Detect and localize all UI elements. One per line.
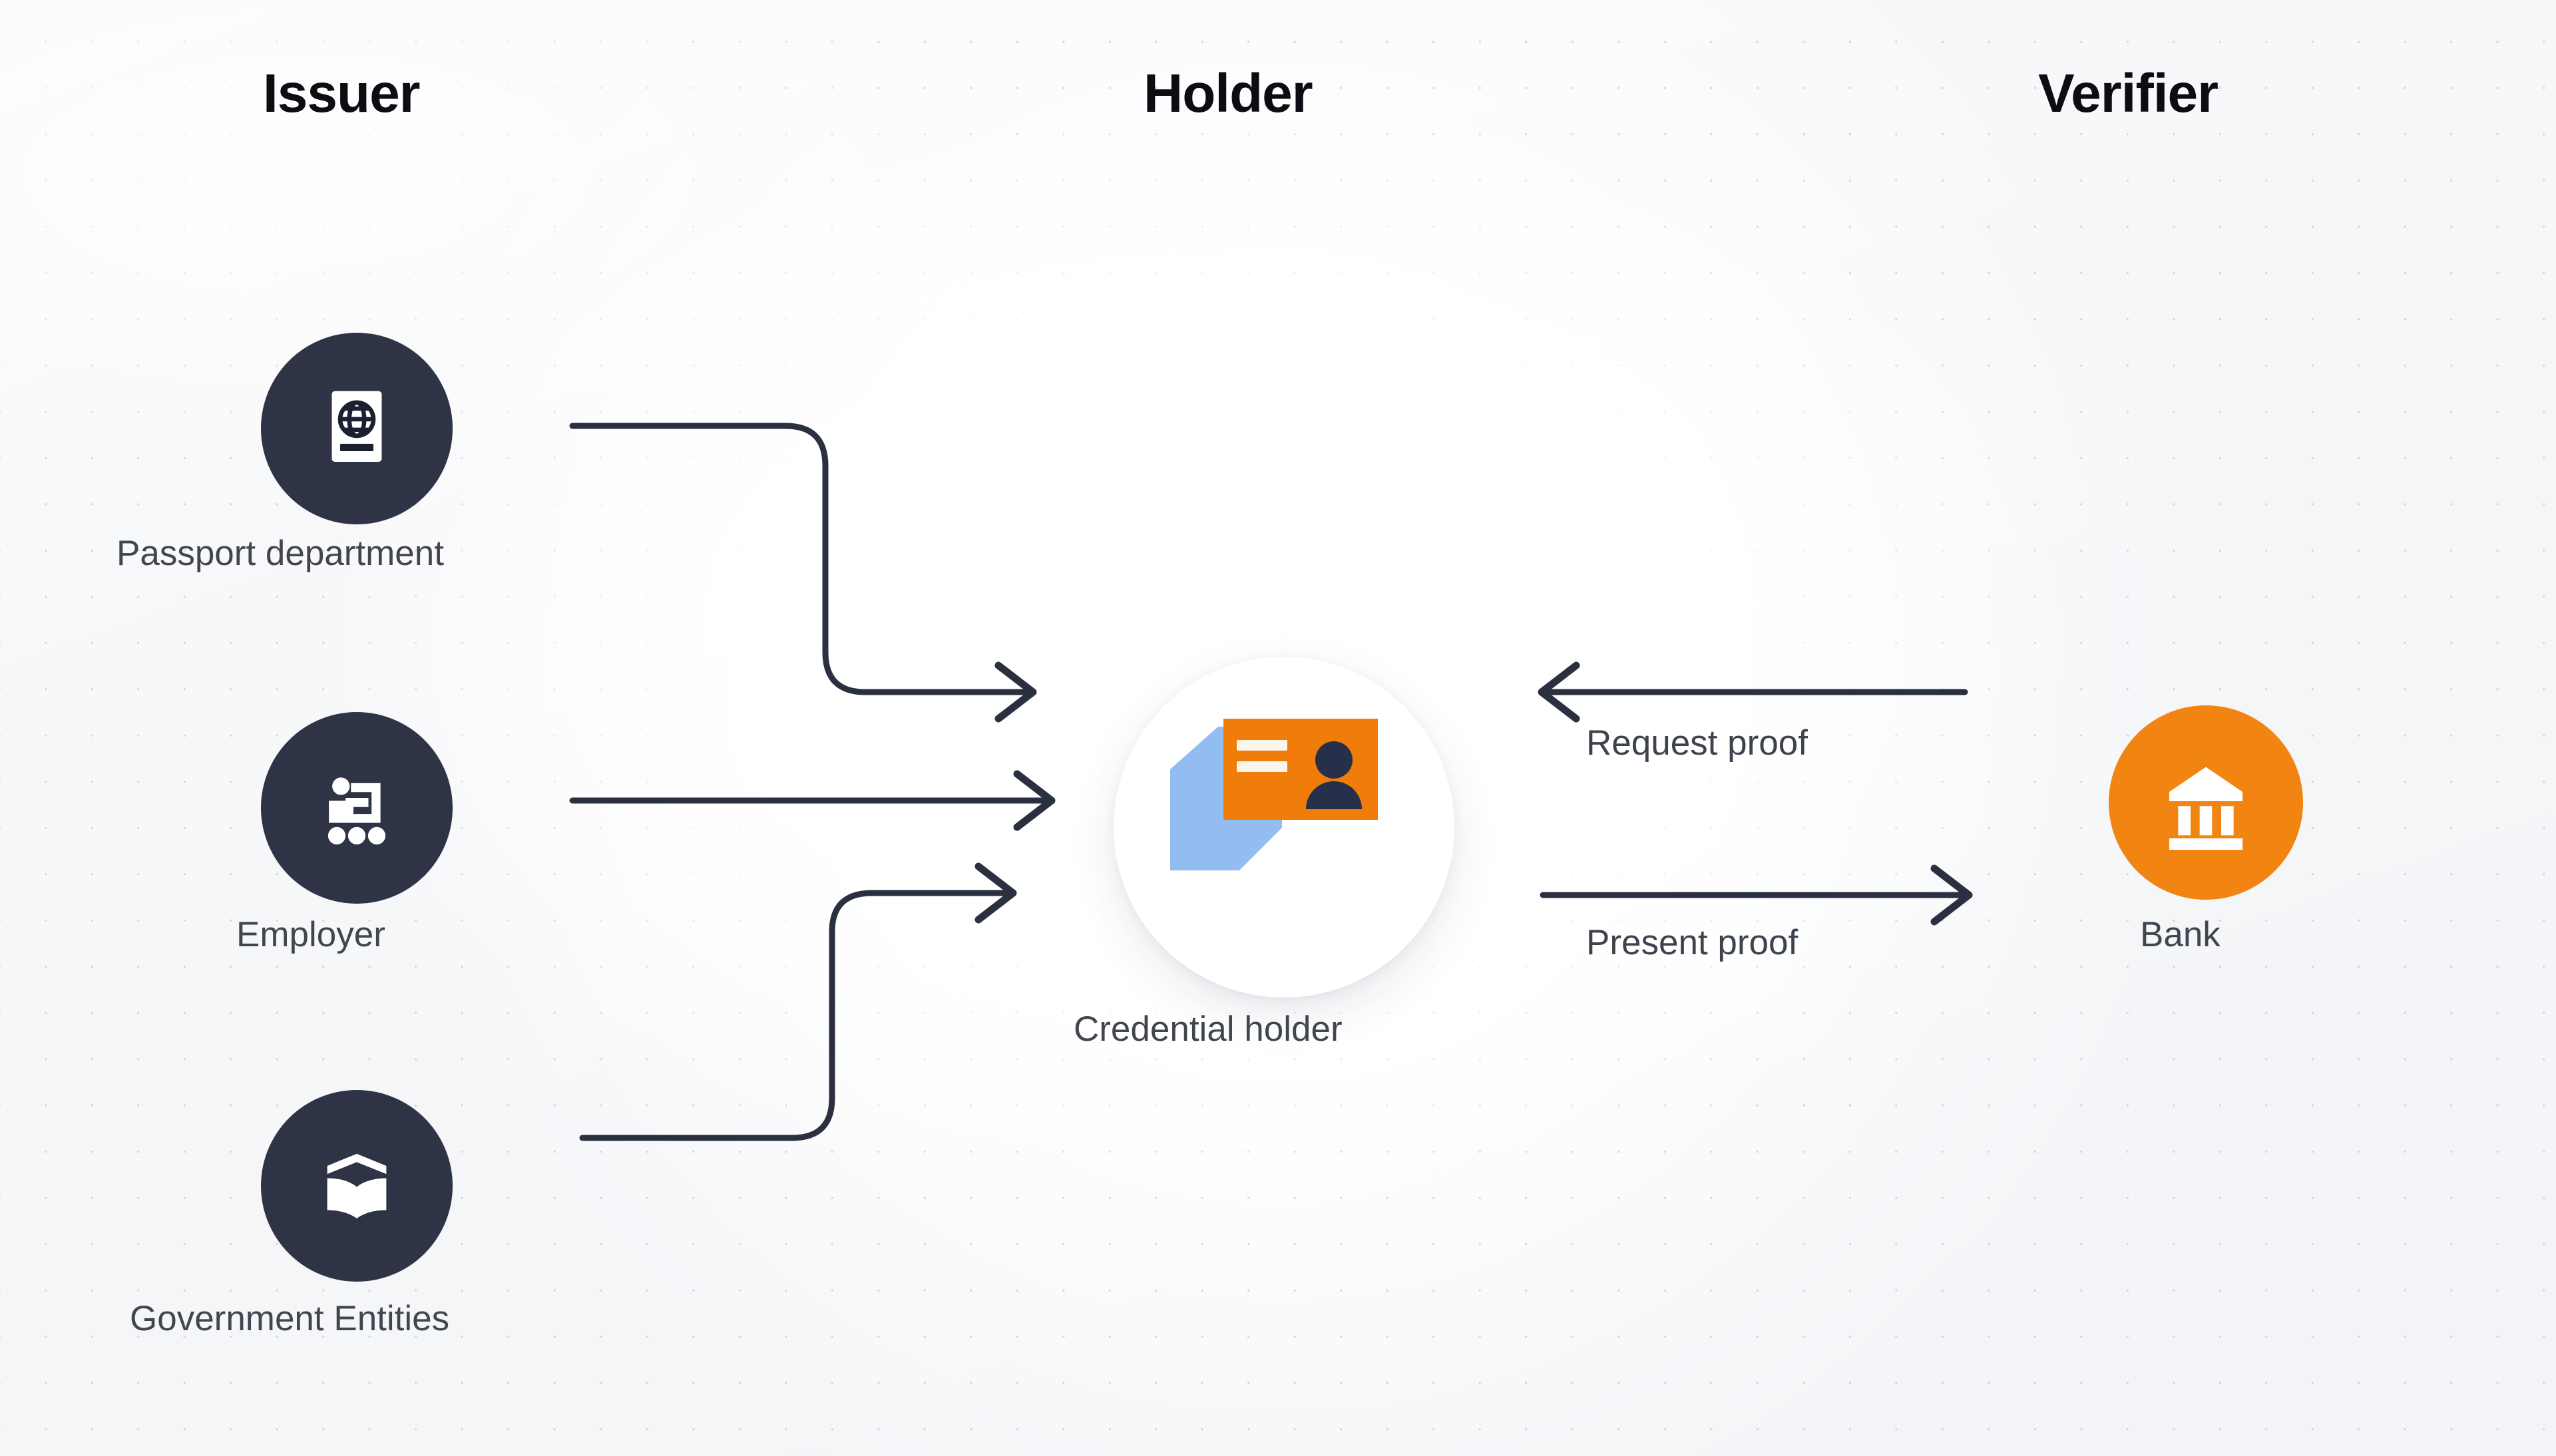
column-heading-verifier: Verifier — [2038, 67, 2218, 121]
bank-icon — [2153, 749, 2259, 856]
bank-badge[interactable] — [2109, 705, 2303, 900]
passport-department-badge[interactable] — [261, 333, 453, 524]
issuer-label-government-entities: Government Entities — [130, 1301, 449, 1336]
diagram-canvas: Issuer Holder Verifier — [0, 0, 2556, 1456]
flow-present-proof — [1543, 868, 1969, 922]
holder-label-credential-holder: Credential holder — [1074, 1011, 1343, 1047]
open-book-icon — [307, 1136, 407, 1236]
flow-label-request-proof: Request proof — [1586, 725, 1808, 761]
issuer-label-passport-department: Passport department — [116, 536, 444, 571]
government-entities-badge[interactable] — [261, 1090, 453, 1282]
flow-issue-passport — [572, 426, 1033, 719]
passport-icon — [307, 379, 407, 478]
verifier-label-bank: Bank — [2140, 917, 2221, 952]
issuer-label-employer: Employer — [236, 917, 385, 952]
org-chart-icon — [307, 758, 407, 858]
flow-issue-employer — [572, 774, 1052, 827]
flow-issue-government — [582, 866, 1013, 1138]
flow-request-proof — [1542, 665, 1965, 719]
employer-badge[interactable] — [261, 712, 453, 904]
column-heading-issuer: Issuer — [263, 67, 420, 121]
column-heading-holder: Holder — [1144, 67, 1313, 121]
flow-label-present-proof: Present proof — [1586, 925, 1798, 960]
id-card-icon — [1160, 705, 1412, 925]
